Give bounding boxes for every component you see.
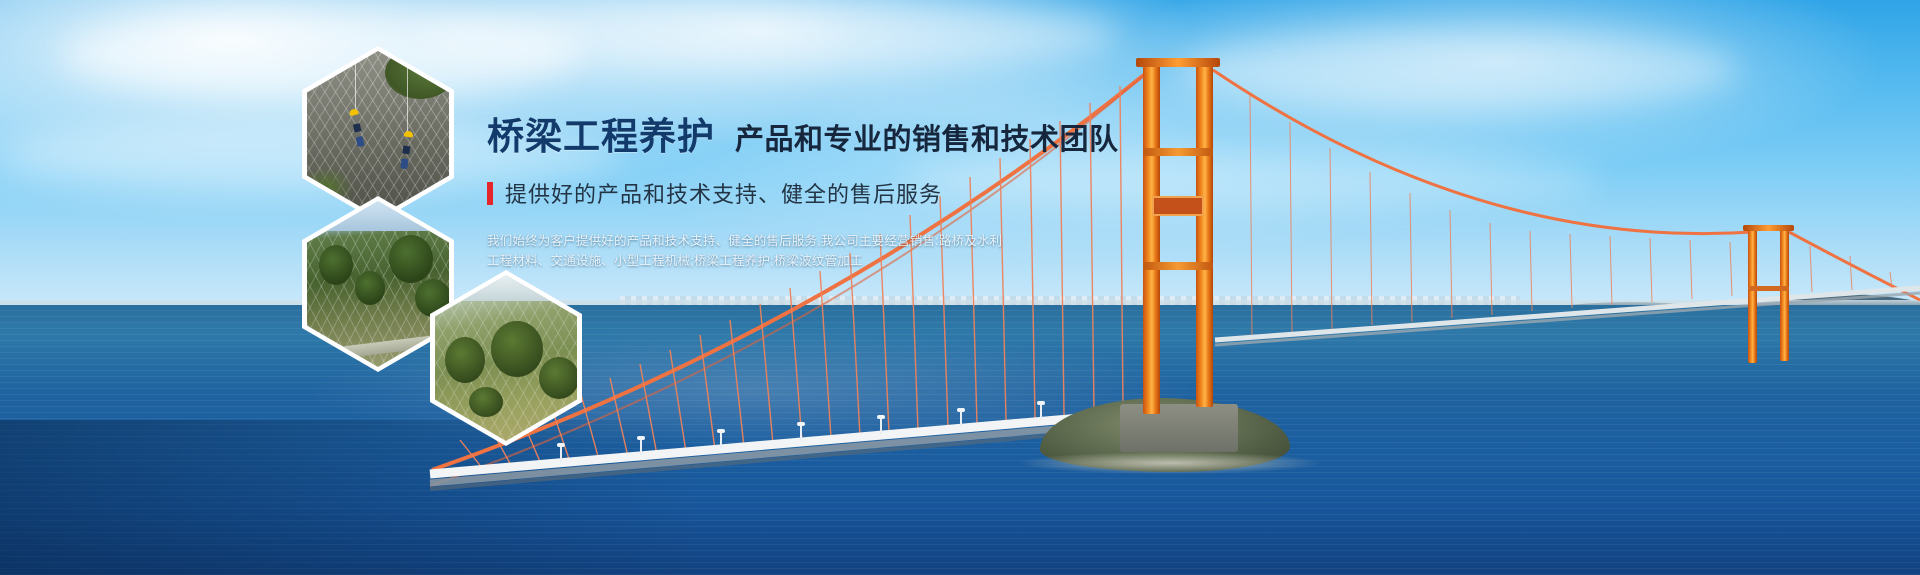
rock-slope-mesh-workers-photo (307, 51, 449, 217)
body-line: 工程材料、交通设施、小型工程机械;桥梁工程养护;桥梁波纹管加工 (487, 251, 1267, 271)
worker-legs (353, 123, 362, 132)
far-tower-right-leg (1780, 228, 1789, 361)
tree (389, 235, 433, 283)
hex-photo-frame (435, 275, 577, 441)
street-lamp (960, 411, 962, 427)
hero-banner: 桥梁工程养护 产品和专业的销售和技术团队 提供好的产品和技术支持、健全的售后服务… (0, 0, 1920, 575)
banner-body-text: 我们始终为客户提供好的产品和技术支持、健全的售后服务,我公司主要经营销售:路桥及… (487, 231, 1267, 271)
hex-photo-frame (307, 201, 449, 367)
hard-hat (349, 108, 359, 116)
bridge-cables (0, 0, 1920, 575)
worker-legs (402, 145, 410, 154)
tree (319, 245, 353, 285)
street-lamp (560, 446, 562, 462)
far-tower-crossbeam (1748, 286, 1789, 291)
headline-primary: 桥梁工程养护 (487, 118, 715, 155)
grassy-slope-mesh-photo (435, 275, 577, 441)
far-tower-left-leg (1748, 228, 1757, 363)
banner-subheadline: 提供好的产品和技术支持、健全的售后服务 (487, 177, 1267, 209)
street-lamp (880, 418, 882, 434)
body-line: 我们始终为客户提供好的产品和技术支持、健全的售后服务,我公司主要经营销售:路桥及… (487, 231, 1267, 251)
worker-torso (400, 158, 408, 169)
worker-torso (356, 136, 365, 147)
suspension-bridge (0, 0, 1920, 575)
far-tower-cap (1743, 225, 1794, 231)
bridge-pier (1120, 404, 1238, 452)
street-lamp (800, 425, 802, 441)
street-lamp (720, 432, 722, 448)
headline-secondary: 产品和专业的销售和技术团队 (735, 126, 1119, 155)
banner-copy: 桥梁工程养护 产品和专业的销售和技术团队 提供好的产品和技术支持、健全的售后服务… (487, 118, 1267, 271)
accent-bar-icon (487, 182, 493, 205)
shrub (539, 357, 577, 399)
bridge-tower-cap (1136, 58, 1220, 67)
subheadline-text: 提供好的产品和技术支持、健全的售后服务 (505, 177, 942, 209)
banner-headline: 桥梁工程养护 产品和专业的销售和技术团队 (487, 118, 1267, 155)
shrub (491, 321, 543, 377)
shrub (445, 337, 485, 383)
hard-hat (404, 130, 414, 137)
safety-rope (355, 57, 356, 113)
hex-photo-frame (307, 51, 449, 217)
tree (355, 271, 385, 305)
worker-figure (402, 130, 414, 153)
street-lamp (640, 439, 642, 455)
street-lamp (1040, 404, 1042, 420)
green-hillside-mesh-photo (307, 201, 449, 367)
shrub (469, 387, 503, 417)
islet-beach (1020, 452, 1320, 474)
worker-figure (349, 108, 362, 131)
safety-rope (407, 67, 408, 133)
